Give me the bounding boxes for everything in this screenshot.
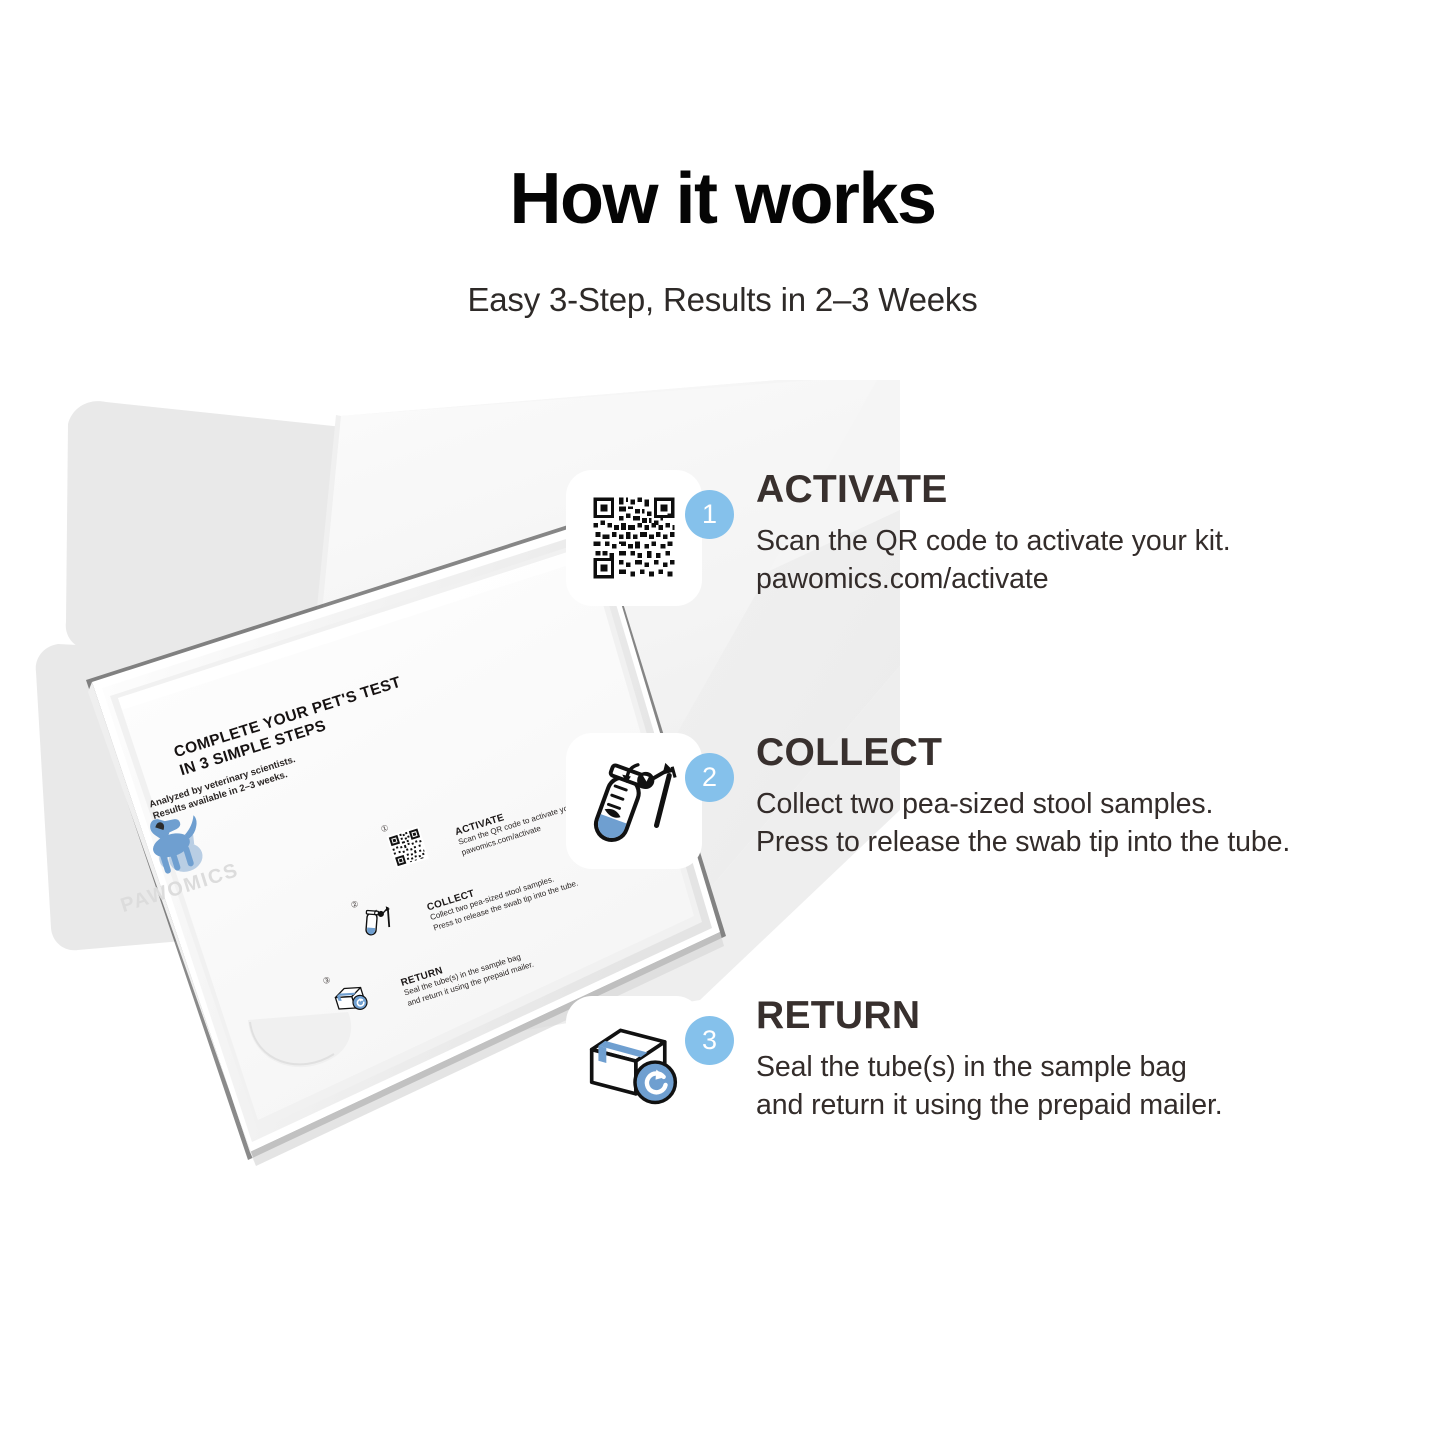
step-1-title: ACTIVATE <box>756 470 1426 511</box>
step-3-desc-line2: and return it using the prepaid mailer. <box>756 1087 1426 1125</box>
step-activate: 1 ACTIVATE Scan the QR code to activate … <box>566 470 1426 640</box>
step-collect: 2 COLLECT Collect two pea-sized stool sa… <box>566 733 1426 903</box>
step-1-text: ACTIVATE Scan the QR code to activate yo… <box>756 470 1426 598</box>
step-3-desc-line1: Seal the tube(s) in the sample bag <box>756 1049 1426 1087</box>
step-return: 3 RETURN Seal the tube(s) in the sample … <box>566 996 1426 1166</box>
dog-icon <box>144 808 209 876</box>
step-2-desc-line1: Collect two pea-sized stool samples. <box>756 786 1426 824</box>
insert-step-1-number: ① <box>380 822 390 834</box>
step-1-desc-line1: Scan the QR code to activate your kit. <box>756 523 1426 561</box>
return-box-icon <box>584 1018 684 1110</box>
step-2-icon-card <box>566 733 702 869</box>
step-3-icon-card <box>566 996 702 1132</box>
page-title: How it works <box>0 0 1445 235</box>
step-2-description: Collect two pea-sized stool samples. Pre… <box>756 774 1426 861</box>
step-1-badge: 1 <box>685 490 734 539</box>
insert-step-3-number: ③ <box>322 974 332 986</box>
step-3-title: RETURN <box>756 996 1426 1037</box>
step-1-description: Scan the QR code to activate your kit. p… <box>756 511 1426 598</box>
step-2-badge: 2 <box>685 753 734 802</box>
page-subtitle: Easy 3-Step, Results in 2–3 Weeks <box>0 235 1445 319</box>
qr-code-icon <box>591 495 677 581</box>
steps-list: 1 ACTIVATE Scan the QR code to activate … <box>566 470 1426 1259</box>
step-2-desc-line2: Press to release the swab tip into the t… <box>756 824 1426 862</box>
page-header: How it works Easy 3-Step, Results in 2–3… <box>0 0 1445 319</box>
sample-tube-swab-icon <box>585 755 683 847</box>
step-3-description: Seal the tube(s) in the sample bag and r… <box>756 1037 1426 1124</box>
insert-step-2-number: ② <box>350 898 360 910</box>
step-2-text: COLLECT Collect two pea-sized stool samp… <box>756 733 1426 861</box>
step-1-icon-card <box>566 470 702 606</box>
step-1-desc-line2: pawomics.com/activate <box>756 561 1426 599</box>
step-3-badge: 3 <box>685 1016 734 1065</box>
step-3-text: RETURN Seal the tube(s) in the sample ba… <box>756 996 1426 1124</box>
step-2-title: COLLECT <box>756 733 1426 774</box>
